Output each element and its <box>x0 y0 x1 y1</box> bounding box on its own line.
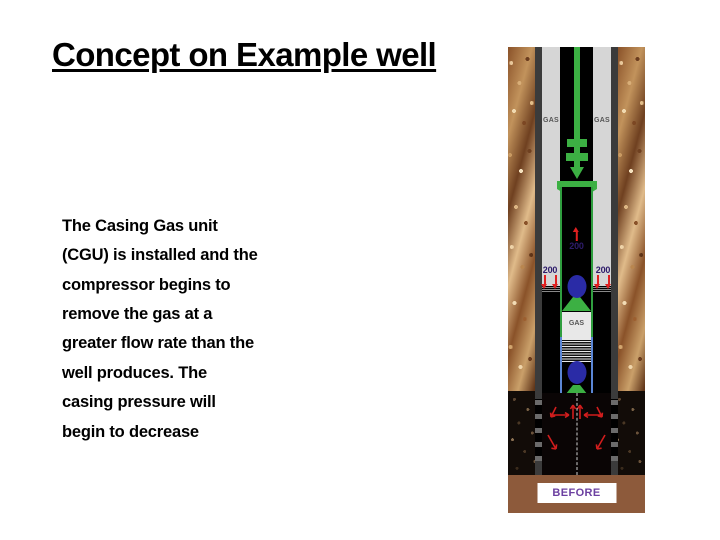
ball-valve-upper <box>567 275 586 298</box>
tubing-gas-label: GAS <box>562 320 591 327</box>
well-diagram-panel: GAS GAS GAS <box>508 47 645 513</box>
tubing-pressure-value: 200 <box>569 241 583 251</box>
slide: Concept on Example well The Casing Gas u… <box>0 0 720 540</box>
tubing-pressure-annotation: 200 <box>569 227 583 251</box>
perforations-left <box>535 399 542 461</box>
page-title-text: Concept on Example well <box>52 36 436 73</box>
valve-screen-band <box>562 340 591 362</box>
valve-seat-upper <box>562 297 591 311</box>
ball-valve-lower <box>567 361 586 384</box>
diagram-caption-text: BEFORE <box>552 487 600 499</box>
arrow-down-icon <box>594 275 601 289</box>
gas-column <box>554 47 600 202</box>
page-title: Concept on Example well <box>52 36 452 75</box>
formation-rock-right <box>618 47 645 447</box>
gas-column-shape <box>554 47 600 197</box>
casing-pressure-left-arrows <box>541 275 559 289</box>
tubing-pressure-arrows <box>569 227 583 241</box>
arrow-down-icon <box>552 275 559 289</box>
body-text-block: The Casing Gas unit (CGU) is installed a… <box>62 212 262 447</box>
casing-pressure-right-arrows <box>594 275 612 289</box>
well-centerline <box>576 393 577 475</box>
casing-pressure-right-annotation: 200 <box>594 265 612 289</box>
casing-pressure-left-annotation: 200 <box>541 265 559 289</box>
diagram-caption-box: BEFORE <box>537 483 616 503</box>
arrow-down-icon <box>605 275 612 289</box>
casing-pressure-left-value: 200 <box>541 265 559 275</box>
wellbore: GAS GAS GAS <box>535 47 618 475</box>
arrow-down-icon <box>541 275 548 289</box>
casing-pressure-right-value: 200 <box>594 265 612 275</box>
body-paragraph: The Casing Gas unit (CGU) is installed a… <box>62 212 262 447</box>
arrow-up-icon <box>573 227 580 241</box>
perforations-right <box>611 399 618 461</box>
formation-rock-left <box>508 47 535 447</box>
